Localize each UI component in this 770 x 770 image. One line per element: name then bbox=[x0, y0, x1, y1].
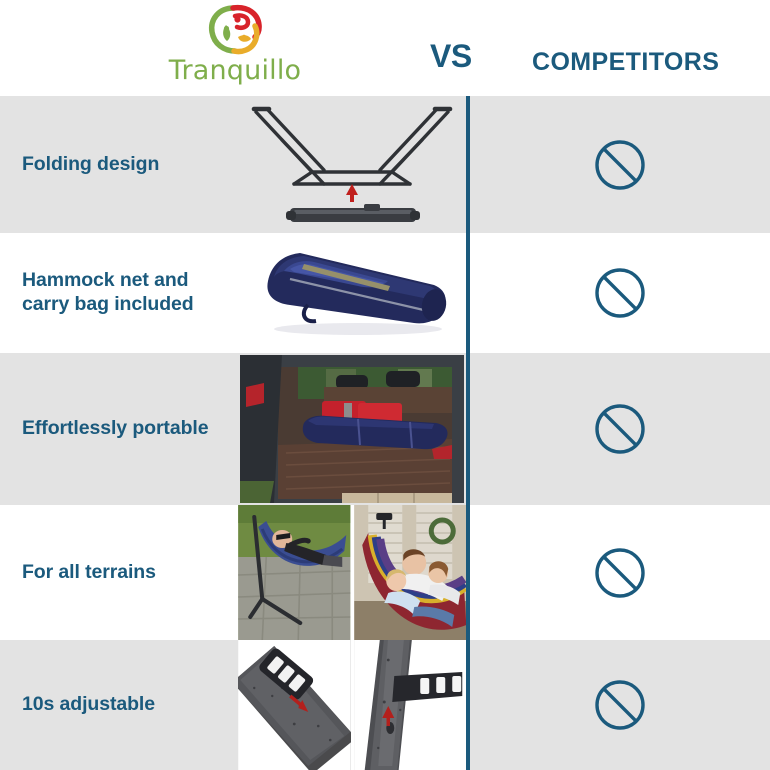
table-row: For all terrains bbox=[0, 505, 770, 640]
hammock-patio-art bbox=[238, 505, 351, 640]
competitors-column-header: COMPETITORS bbox=[532, 48, 719, 77]
prohibited-icon bbox=[593, 678, 647, 732]
hammock-outdoor-and-family-photos-icon bbox=[238, 505, 466, 640]
feature-label: Folding design bbox=[22, 153, 159, 177]
feature-cell: 10s adjustable bbox=[0, 640, 238, 770]
adjustable-pole-bracket-closeup-photos-icon bbox=[238, 640, 466, 770]
prohibited-icon bbox=[593, 546, 647, 600]
competitor-mark-cell bbox=[470, 233, 770, 353]
hammock-stand-folding-photo-icon bbox=[238, 96, 466, 233]
feature-label: Effortlessly portable bbox=[22, 417, 208, 441]
car-trunk-art bbox=[238, 353, 466, 505]
competitor-mark-cell bbox=[470, 353, 770, 505]
media-split bbox=[238, 640, 466, 770]
prohibited-icon bbox=[593, 402, 647, 456]
media-split bbox=[238, 505, 466, 640]
logo-svg bbox=[204, 4, 266, 56]
feature-cell: For all terrains bbox=[0, 505, 238, 640]
tranquillo-leaf-circle-logo-icon bbox=[204, 4, 266, 56]
hammock-stand-art bbox=[238, 96, 466, 233]
brand-name: Tranquillo bbox=[169, 57, 302, 84]
family-hammock-art bbox=[354, 505, 467, 640]
prohibited-icon bbox=[593, 266, 647, 320]
car-trunk-with-bag-photo-icon bbox=[238, 353, 466, 505]
competitor-mark-cell bbox=[470, 96, 770, 233]
table-row: 10s adjustable bbox=[0, 640, 770, 770]
vs-label: VS bbox=[430, 38, 472, 75]
comparison-infographic: Tranquillo VS COMPETITORS Folding design bbox=[0, 0, 770, 770]
bracket-right-art bbox=[354, 640, 467, 770]
bracket-closeup-photo-left bbox=[238, 640, 351, 770]
feature-cell: Folding design bbox=[0, 96, 238, 233]
prohibited-icon bbox=[593, 138, 647, 192]
comparison-table: Folding design bbox=[0, 96, 770, 770]
competitor-mark-cell bbox=[470, 640, 770, 770]
feature-label: 10s adjustable bbox=[22, 693, 155, 717]
feature-label: Hammock net and carry bag included bbox=[22, 269, 230, 317]
table-row: Hammock net and carry bag included bbox=[0, 233, 770, 353]
feature-label: For all terrains bbox=[22, 561, 156, 585]
feature-cell: Hammock net and carry bag included bbox=[0, 233, 238, 353]
table-row: Effortlessly portable bbox=[0, 353, 770, 505]
navy-carry-bag-photo-icon bbox=[238, 233, 466, 353]
carry-bag-art bbox=[238, 233, 466, 353]
feature-cell: Effortlessly portable bbox=[0, 353, 238, 505]
bracket-closeup-photo-right bbox=[354, 640, 467, 770]
table-row: Folding design bbox=[0, 96, 770, 233]
hammock-patio-photo bbox=[238, 505, 351, 640]
competitor-mark-cell bbox=[470, 505, 770, 640]
bracket-left-art bbox=[238, 640, 351, 770]
family-hammock-photo bbox=[354, 505, 467, 640]
header: Tranquillo VS COMPETITORS bbox=[0, 0, 770, 96]
brand-logo: Tranquillo bbox=[135, 2, 335, 94]
